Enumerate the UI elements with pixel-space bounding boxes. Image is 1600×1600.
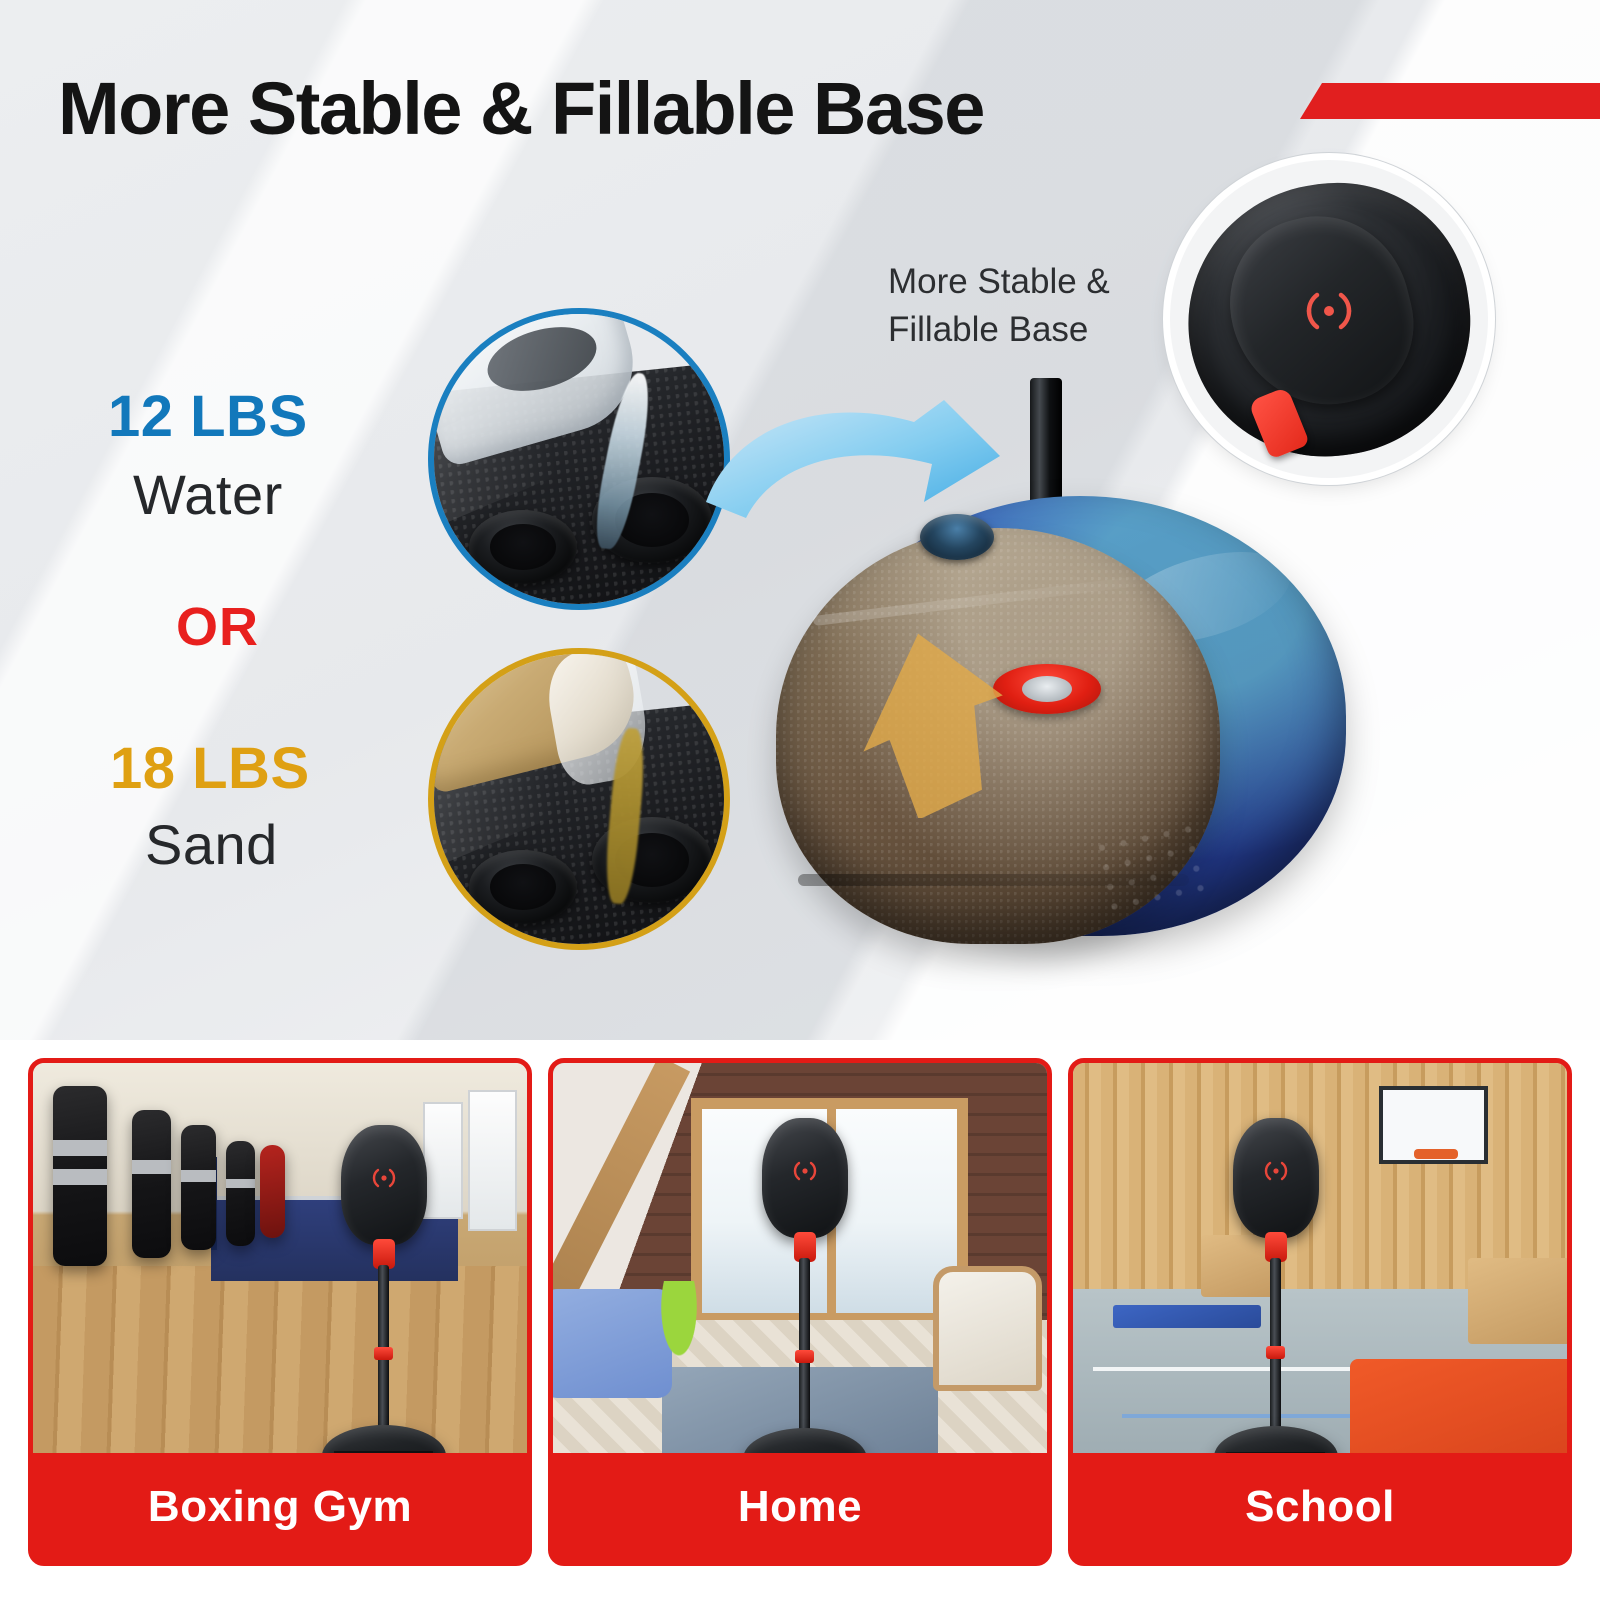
heavy-bag-red [260, 1145, 285, 1239]
annotation-line-1: More Stable & [888, 258, 1188, 306]
target-bullseye-icon [369, 1163, 399, 1193]
trainer-fillable-base [322, 1425, 446, 1453]
school-photo [1073, 1063, 1567, 1453]
heavy-bag [53, 1086, 107, 1265]
blue-sofa [553, 1289, 672, 1398]
water-weight-value: 12 LBS [108, 383, 308, 450]
target-bullseye-icon [1298, 280, 1360, 342]
punching-trainer [1201, 1118, 1349, 1446]
trainer-pad [1233, 1118, 1319, 1238]
gym-scene [33, 1063, 527, 1453]
water-label: Water [133, 462, 283, 527]
heavy-bag [132, 1110, 172, 1258]
scene-caption-boxing-gym: Boxing Gym [33, 1453, 527, 1561]
heavy-bag [181, 1125, 216, 1250]
scene-caption-home: Home [553, 1453, 1047, 1561]
orange-crash-mat [1350, 1359, 1567, 1453]
height-adjust-clip [374, 1347, 393, 1360]
sand-weight-value: 18 LBS [110, 735, 310, 802]
height-adjust-clip [795, 1350, 814, 1363]
page-title: More Stable & Fillable Base [58, 66, 984, 151]
basketball-rim [1414, 1149, 1458, 1159]
sand-fill-arrow-icon [840, 618, 1030, 818]
water-fill-scene [434, 314, 724, 604]
trainer-fillable-base [743, 1428, 867, 1453]
fillable-base-illustration [762, 378, 1402, 1038]
trainer-fillable-base [1214, 1426, 1338, 1453]
trainer-pad [341, 1125, 427, 1245]
target-bullseye-icon [790, 1156, 820, 1186]
punching-trainer [731, 1118, 879, 1446]
home-scene [553, 1063, 1047, 1453]
scene-card-home[interactable]: Home [548, 1058, 1052, 1566]
heavy-bag [226, 1141, 256, 1246]
usage-scenario-cards: Boxing Gym [28, 1058, 1572, 1566]
target-bullseye-icon [1261, 1156, 1291, 1186]
trainer-pad [762, 1118, 848, 1238]
sand-fill-scene [434, 654, 724, 944]
annotation-line-2: Fillable Base [888, 306, 1188, 354]
scene-caption-school: School [1073, 1453, 1567, 1561]
gym-window [468, 1090, 517, 1230]
rocking-chair [933, 1266, 1042, 1391]
potted-plant [657, 1281, 701, 1367]
annotation-callout: More Stable & Fillable Base [888, 258, 1188, 353]
vaulting-box [1468, 1258, 1567, 1344]
boxing-gym-photo [33, 1063, 527, 1453]
height-adjust-clip [1266, 1346, 1285, 1359]
or-separator-label: OR [176, 596, 259, 658]
school-gym-scene [1073, 1063, 1567, 1453]
sand-fill-inset-photo [428, 648, 730, 950]
fill-port-cap [469, 850, 577, 924]
scene-card-boxing-gym[interactable]: Boxing Gym [28, 1058, 532, 1566]
water-fill-inset-photo [428, 308, 730, 610]
base-fill-cap [920, 514, 994, 560]
punching-trainer [310, 1125, 458, 1437]
fill-port-cap [469, 510, 577, 584]
home-photo [553, 1063, 1047, 1453]
scene-card-school[interactable]: School [1068, 1058, 1572, 1566]
red-accent-bar [1300, 83, 1600, 119]
sand-label: Sand [145, 812, 278, 877]
